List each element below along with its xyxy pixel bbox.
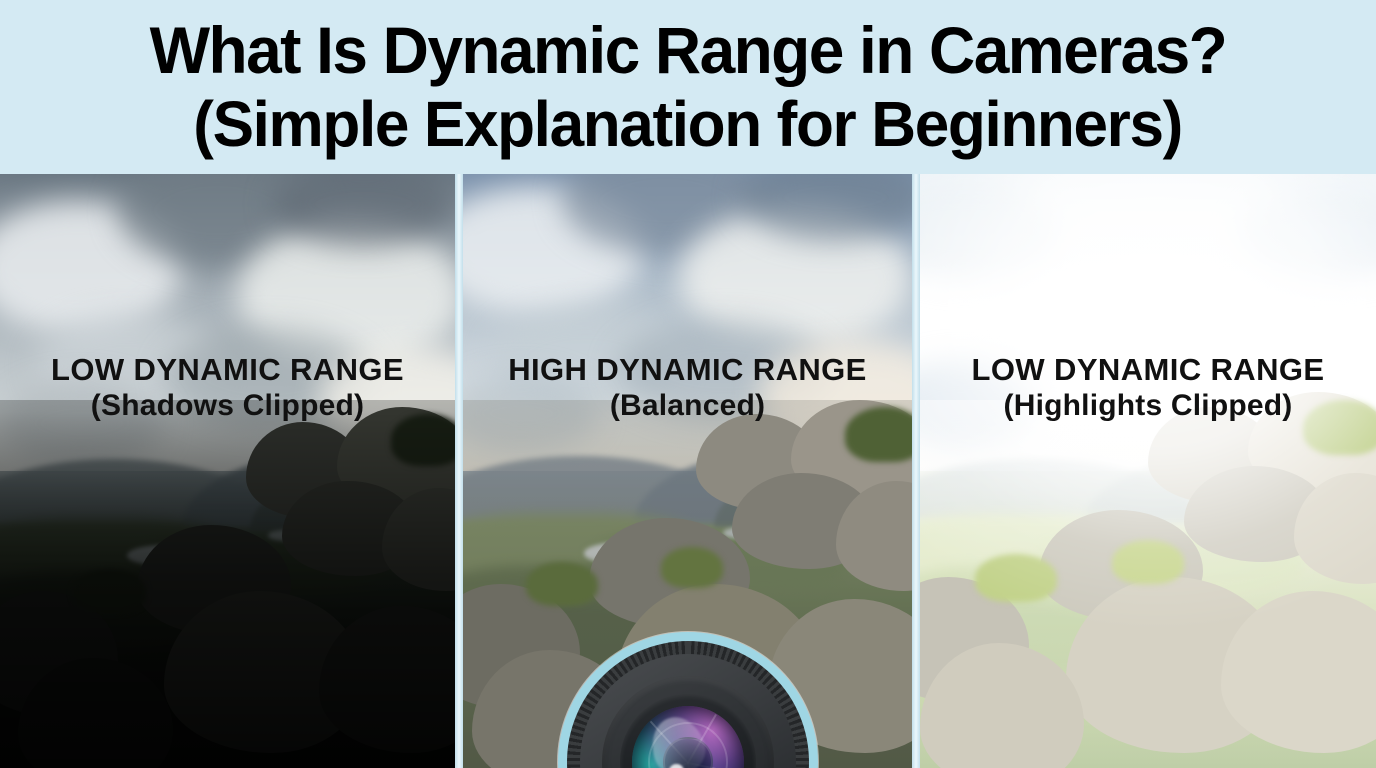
panel-divider-left <box>455 174 463 768</box>
panel-low-dynamic-range-highlights[interactable]: LOW DYNAMIC RANGE (Highlights Clipped) <box>920 174 1376 768</box>
infographic-page: What Is Dynamic Range in Cameras? (Simpl… <box>0 0 1376 768</box>
shadow-clipping-overlay <box>0 174 455 768</box>
highlight-clipping-overlay <box>920 174 1376 768</box>
lens-specular-dot <box>669 764 684 768</box>
lens-flare-highlight <box>644 711 711 768</box>
page-title-line-1: What Is Dynamic Range in Cameras? <box>150 13 1227 87</box>
photo-highlights-clipped <box>920 174 1376 768</box>
header-banner: What Is Dynamic Range in Cameras? (Simpl… <box>0 0 1376 174</box>
panel-divider-right <box>912 174 920 768</box>
page-title-line-2: (Simple Explanation for Beginners) <box>194 87 1183 161</box>
photo-shadows-clipped <box>0 174 455 768</box>
panel-low-dynamic-range-shadows[interactable]: LOW DYNAMIC RANGE (Shadows Clipped) <box>0 174 455 768</box>
